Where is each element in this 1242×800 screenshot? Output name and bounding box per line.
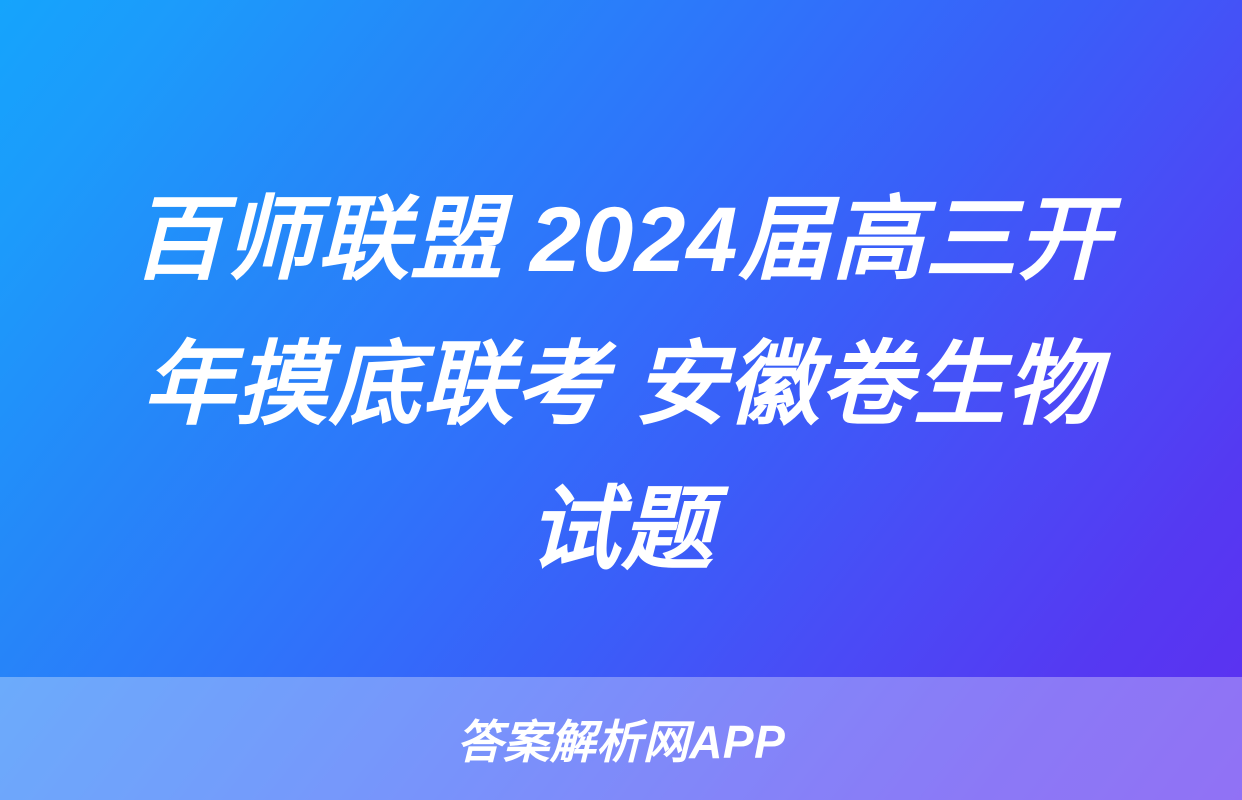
title-line-3: 试题 [40, 458, 1202, 603]
title-line-2: 年摸底联考 安徽卷生物 [40, 313, 1202, 458]
cover-card: 百师联盟 2024届高三开 年摸底联考 安徽卷生物 试题 答案解析网APP [0, 0, 1242, 800]
page-title: 百师联盟 2024届高三开 年摸底联考 安徽卷生物 试题 [0, 168, 1242, 603]
watermark-band: 答案解析网APP [0, 677, 1242, 800]
title-line-1: 百师联盟 2024届高三开 [40, 168, 1202, 313]
watermark-label: 答案解析网APP [457, 716, 786, 768]
